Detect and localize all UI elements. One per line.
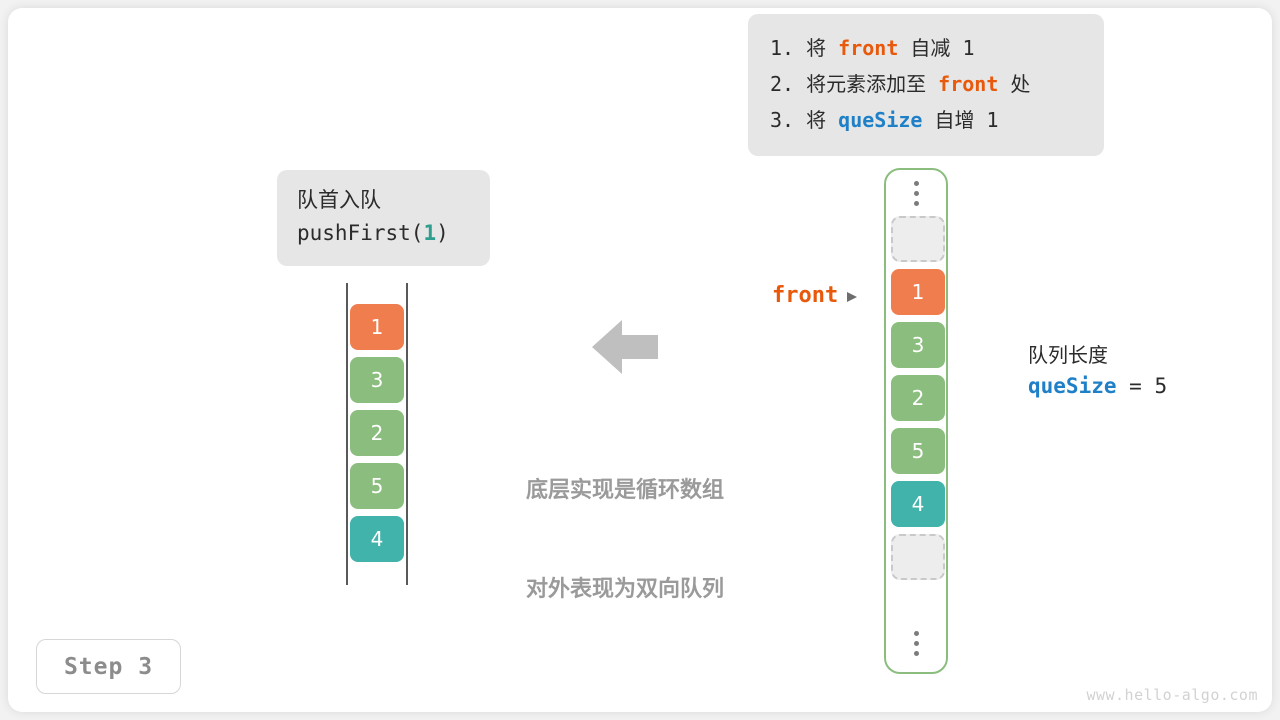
center-caption-line-2: 对外表现为双向队列 [480,573,770,606]
queue-size-variable: queSize [1028,374,1117,398]
circular-array-cell-empty [891,534,945,580]
step-badge: Step 3 [36,639,181,694]
left-array-cell: 5 [350,463,404,509]
operation-note-line-1: 1. 将 front 自减 1 [770,30,1082,66]
equivalence-arrow-icon [592,318,658,376]
arrow-right-icon [845,289,859,303]
operation-note-line-1-keyword: front [838,36,898,60]
circular-array-container: 1 3 2 5 4 [884,168,948,674]
left-array-cells: 1 3 2 5 4 [350,304,404,569]
circular-array-cell: 2 [891,375,945,421]
queue-size-value: 5 [1154,374,1167,398]
diagram-canvas: 1. 将 front 自减 1 2. 将元素添加至 front 处 3. 将 q… [0,0,1280,720]
operation-label-title: 队首入队 [297,184,470,216]
queue-size-title: 队列长度 [1028,340,1167,370]
front-pointer: front [772,283,859,308]
operation-note-line-2-keyword: front [938,72,998,96]
queue-size-info: 队列长度 queSize = 5 [1028,340,1167,402]
operation-note-line-3-keyword: queSize [838,108,922,132]
ellipsis-dot [914,651,919,656]
left-array-cell: 4 [350,516,404,562]
step-badge-label: Step 3 [64,654,153,680]
circular-array-cell: 1 [891,269,945,315]
queue-size-expression: queSize = 5 [1028,370,1167,402]
circular-array-cell-empty [891,216,945,262]
left-array-cell: 1 [350,304,404,350]
left-array-cell: 3 [350,357,404,403]
watermark: www.hello-algo.com [1086,686,1258,704]
top-ellipsis-icon [886,170,946,216]
operation-note-line-2: 2. 将元素添加至 front 处 [770,66,1082,102]
operation-note-line-1-suffix: 自减 1 [898,36,974,60]
center-caption-line-1: 底层实现是循环数组 [480,474,770,507]
left-array-rail-left [346,283,348,585]
ellipsis-dot [914,631,919,636]
operation-note-line-1-prefix: 1. 将 [770,36,838,60]
operation-label-code-prefix: pushFirst( [297,221,423,245]
queue-size-equals: = [1117,374,1155,398]
operation-label-box: 队首入队 pushFirst(1) [277,170,490,266]
ellipsis-dot [914,201,919,206]
ellipsis-dot [914,191,919,196]
operation-note-line-2-suffix: 处 [998,72,1030,96]
operation-note-line-3: 3. 将 queSize 自增 1 [770,102,1082,138]
front-pointer-label: front [772,283,838,308]
operation-label-code-suffix: ) [436,221,449,245]
ellipsis-dot [914,641,919,646]
operation-label-code: pushFirst(1) [297,216,470,250]
ellipsis-dot [914,181,919,186]
operation-note-line-2-prefix: 2. 将元素添加至 [770,72,938,96]
circular-array-cell: 3 [891,322,945,368]
circular-array-cell: 4 [891,481,945,527]
operation-label-code-arg: 1 [423,221,436,245]
operation-note-box: 1. 将 front 自减 1 2. 将元素添加至 front 处 3. 将 q… [748,14,1104,156]
left-queue-array: 1 3 2 5 4 [346,283,408,585]
circular-array-cell: 5 [891,428,945,474]
left-array-cell: 2 [350,410,404,456]
operation-note-line-3-prefix: 3. 将 [770,108,838,132]
circular-array-cells: 1 3 2 5 4 [891,216,945,587]
center-caption: 底层实现是循环数组 对外表现为双向队列 [480,408,770,672]
left-array-rail-right [406,283,408,585]
operation-note-line-3-suffix: 自增 1 [922,108,998,132]
bottom-ellipsis-icon [886,620,946,666]
